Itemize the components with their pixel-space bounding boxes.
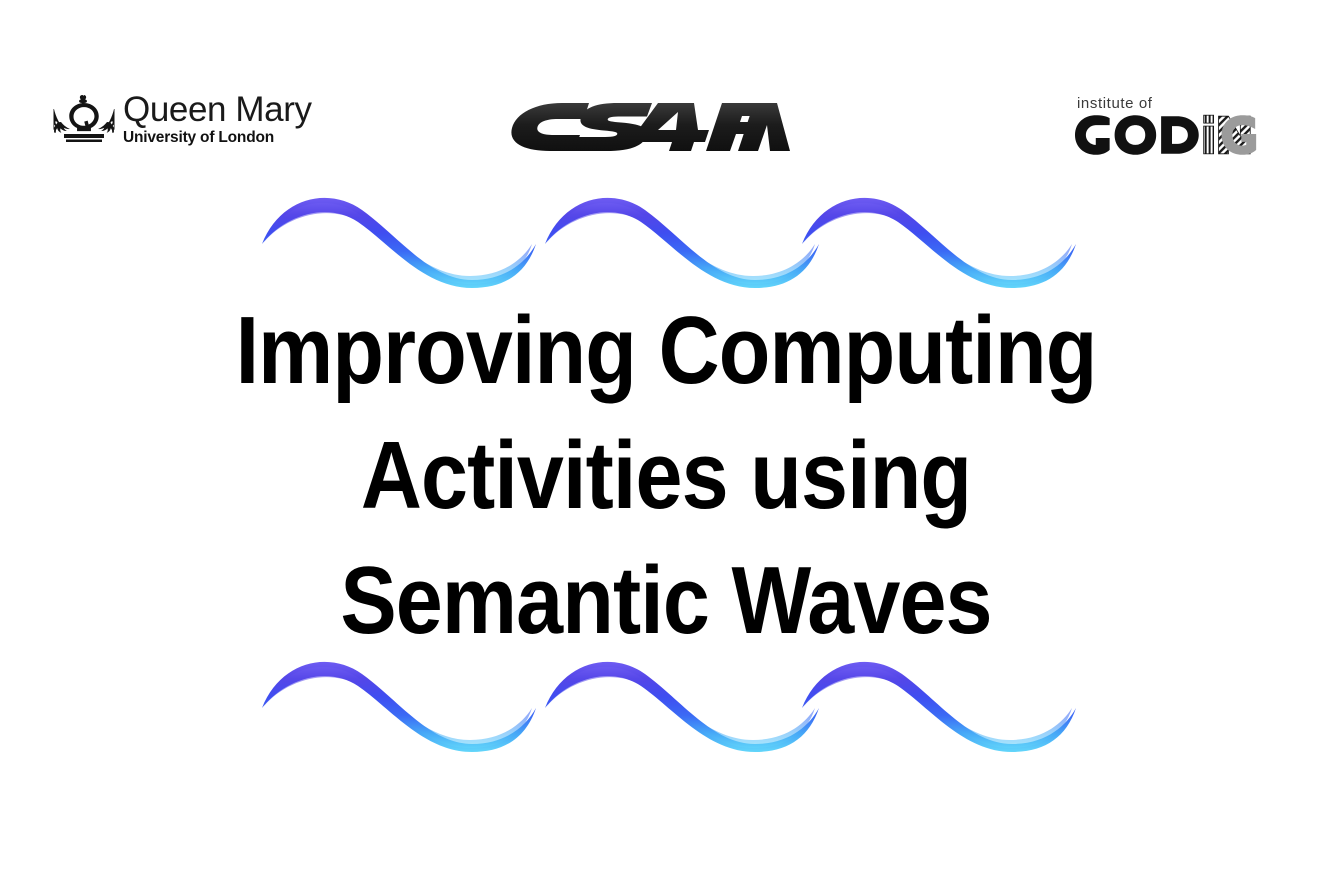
institute-of-coding-logo: institute of bbox=[1074, 96, 1274, 158]
semantic-wave-icon bbox=[258, 652, 1078, 752]
queen-mary-wordmark: Queen Mary University of London bbox=[123, 92, 312, 146]
institute-of-coding-wordmark-icon bbox=[1074, 114, 1272, 156]
title-line-2: Activities using bbox=[80, 413, 1252, 538]
queen-mary-subtitle: University of London bbox=[123, 129, 312, 146]
title-line-3: Semantic Waves bbox=[80, 538, 1252, 663]
logo-band: Queen Mary University of London bbox=[0, 0, 1332, 180]
decorative-wave-row-bottom bbox=[258, 652, 1078, 752]
queen-mary-name: Queen Mary bbox=[123, 92, 312, 128]
slide-canvas: Queen Mary University of London bbox=[0, 0, 1332, 874]
semantic-wave-icon bbox=[258, 188, 1078, 288]
queen-mary-logo: Queen Mary University of London bbox=[51, 92, 326, 160]
cs4fn-logo bbox=[508, 101, 793, 153]
decorative-wave-row-top bbox=[258, 188, 1078, 288]
title-line-1: Improving Computing bbox=[80, 288, 1252, 413]
institute-of-coding-tagline: institute of bbox=[1077, 96, 1274, 112]
cs4fn-wordmark-icon bbox=[508, 101, 793, 153]
slide-title: Improving Computing Activities using Sem… bbox=[0, 288, 1332, 663]
crown-icon bbox=[51, 94, 117, 146]
